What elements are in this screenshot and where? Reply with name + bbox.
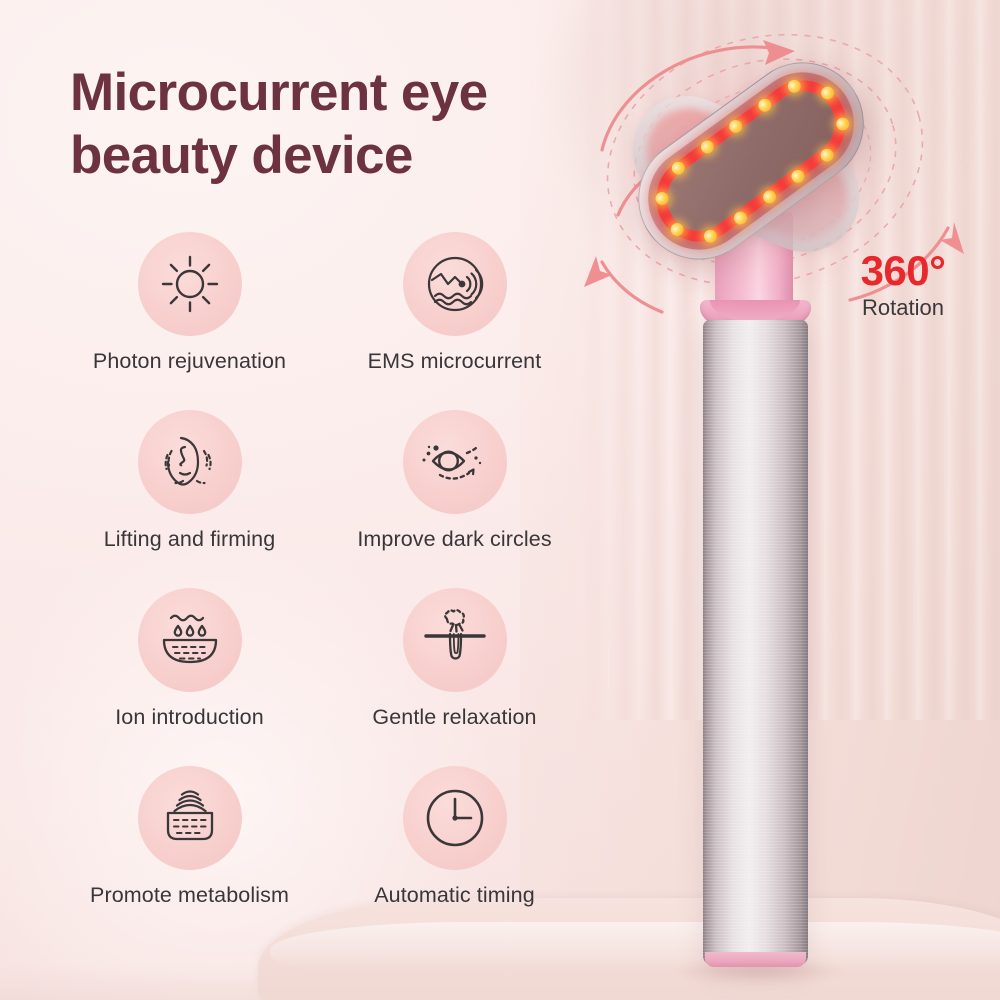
feature-item-improve-dark-circles[interactable]: Improve dark circles: [327, 410, 582, 552]
page-title: Microcurrent eye beauty device: [70, 62, 630, 187]
feature-icon-badge: [138, 588, 242, 692]
feature-item-lifting-and-firming[interactable]: Lifting and firming: [62, 410, 317, 552]
pore-steam-icon: [420, 608, 490, 672]
feature-label: EMS microcurrent: [368, 349, 542, 374]
feature-row: Ion introduction: [62, 588, 582, 730]
rotation-degrees: 360°: [838, 250, 968, 292]
feature-label: Automatic timing: [374, 883, 535, 908]
feature-icon-badge: [138, 410, 242, 514]
feature-icon-badge: [138, 232, 242, 336]
feature-label: Improve dark circles: [357, 527, 551, 552]
ion-bowl-icon: [155, 609, 225, 671]
feature-icon-badge: [403, 410, 507, 514]
feature-item-automatic-timing[interactable]: Automatic timing: [327, 766, 582, 908]
feature-label: Lifting and firming: [104, 527, 276, 552]
feature-item-ems-microcurrent[interactable]: EMS microcurrent: [327, 232, 582, 374]
feature-label: Photon rejuvenation: [93, 349, 286, 374]
eye-icon: [420, 431, 490, 493]
skin-waves-icon: [155, 786, 225, 850]
clock-icon: [423, 786, 487, 850]
feature-list: Photon rejuvenation: [62, 232, 582, 944]
rotation-subtitle: Rotation: [838, 297, 968, 319]
feature-row: Photon rejuvenation: [62, 232, 582, 374]
rotation-callout: 360° Rotation: [838, 250, 968, 319]
feature-item-promote-metabolism[interactable]: Promote metabolism: [62, 766, 317, 908]
device-base-foot: [705, 952, 806, 967]
feature-item-photon-rejuvenation[interactable]: Photon rejuvenation: [62, 232, 317, 374]
feature-icon-badge: [403, 232, 507, 336]
feature-label: Ion introduction: [115, 705, 264, 730]
sun-icon: [159, 253, 221, 315]
feature-icon-badge: [403, 588, 507, 692]
feature-row: Promote metabolism Automatic timing: [62, 766, 582, 908]
feature-label: Promote metabolism: [90, 883, 289, 908]
feature-label: Gentle relaxation: [372, 705, 536, 730]
device-illustration: 360° Rotation: [560, 0, 1000, 1000]
feature-item-ion-introduction[interactable]: Ion introduction: [62, 588, 317, 730]
ems-wave-icon: [422, 251, 488, 317]
face-lift-icon: [157, 429, 223, 495]
handle-texture: [703, 320, 808, 965]
feature-icon-badge: [403, 766, 507, 870]
device-handle[interactable]: [703, 320, 808, 965]
feature-row: Lifting and firming: [62, 410, 582, 552]
product-marketing-image: Microcurrent eye beauty device: [0, 0, 1000, 1000]
feature-item-gentle-relaxation[interactable]: Gentle relaxation: [327, 588, 582, 730]
feature-icon-badge: [138, 766, 242, 870]
